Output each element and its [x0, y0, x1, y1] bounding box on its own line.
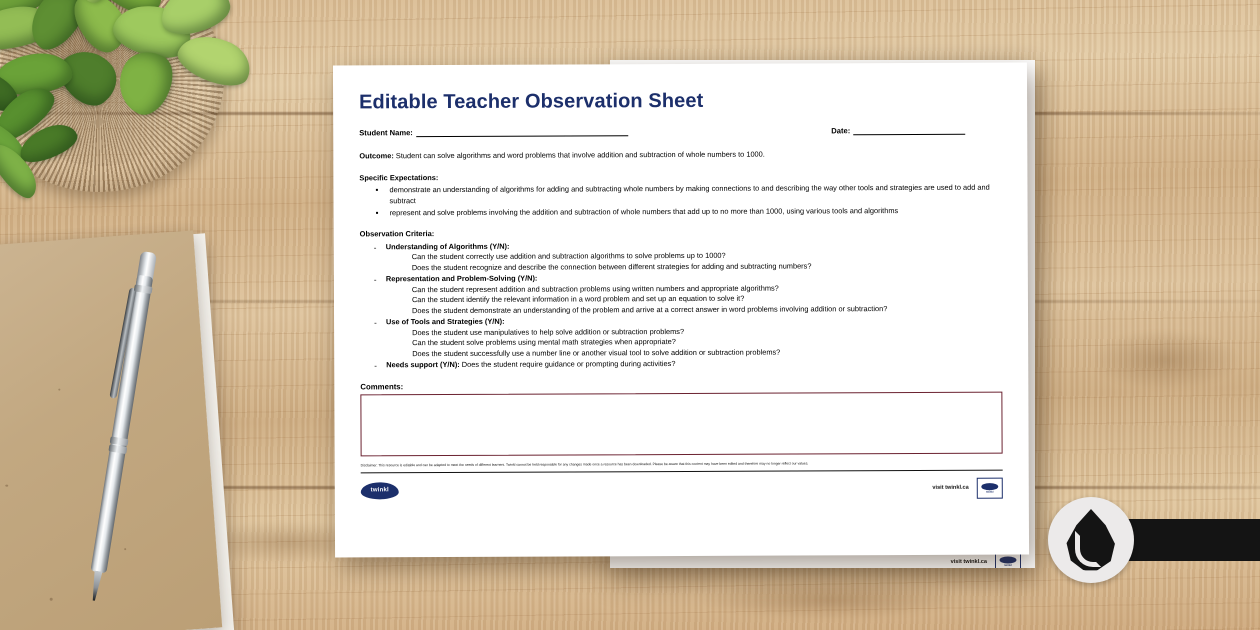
criteria-item-tools: Use of Tools and Strategies (Y/N): Does … [372, 315, 1002, 360]
editable-badge[interactable] [1048, 497, 1134, 583]
criteria-list: Understanding of Algorithms (Y/N): Can t… [372, 239, 1003, 371]
page-title: Editable Teacher Observation Sheet [359, 89, 1001, 115]
visit-url-text[interactable]: visit twinkl.ca [951, 559, 987, 565]
date-label: Date: [831, 126, 850, 135]
student-name-input[interactable] [416, 127, 628, 137]
footer-right-group: visit twinkl.ca twinkl [932, 478, 1002, 499]
outcome-label: Outcome: [359, 151, 394, 160]
twinkl-logo[interactable]: twinkl [361, 482, 399, 499]
observation-sheet-document[interactable]: Editable Teacher Observation Sheet Stude… [333, 62, 1029, 557]
criteria-item-needs-support: Needs support (Y/N): Does the student re… [372, 358, 1002, 371]
date-field[interactable]: Date: [831, 126, 965, 136]
twinkl-badge-icon: twinkl [977, 478, 1003, 499]
disclaimer-text: Disclaimer: This resource is editable an… [361, 460, 1003, 468]
twinkl-badge-label: twinkl [1004, 564, 1011, 567]
expectations-heading: Specific Expectations: [359, 173, 438, 182]
criteria-label: Needs support (Y/N): [386, 360, 460, 369]
potted-plant [0, 0, 274, 240]
document-footer: twinkl visit twinkl.ca twinkl [361, 470, 1003, 502]
cloud-icon [981, 483, 999, 491]
outcome-text: Student can solve algorithms and word pr… [396, 150, 765, 161]
twinkl-badge-label: twinkl [986, 491, 993, 494]
expectations-list: demonstrate an understanding of algorith… [359, 183, 1001, 218]
ink-drop-icon [1065, 509, 1117, 571]
student-date-field-row: Student Name: Date: [359, 126, 1001, 138]
comments-label: Comments: [360, 379, 1002, 391]
criteria-question: Does the student require guidance or pro… [462, 359, 676, 369]
student-name-label: Student Name: [359, 128, 413, 137]
criteria-heading: Observation Criteria: [360, 227, 1002, 241]
outcome-block: Outcome: Student can solve algorithms an… [359, 149, 1001, 163]
criteria-item-representation: Representation and Problem-Solving (Y/N)… [372, 272, 1002, 317]
comments-input[interactable] [360, 391, 1002, 456]
student-name-field[interactable]: Student Name: [359, 127, 628, 137]
twinkl-wordmark: twinkl [361, 482, 399, 499]
criteria-item-understanding: Understanding of Algorithms (Y/N): Can t… [372, 239, 1002, 273]
visit-url-text[interactable]: visit twinkl.ca [932, 485, 968, 491]
list-item: represent and solve problems involving t… [374, 205, 1002, 218]
date-input[interactable] [853, 126, 965, 135]
expectations-block: Specific Expectations: demonstrate an un… [359, 170, 1001, 218]
criteria-block: Observation Criteria: Understanding of A… [360, 227, 1003, 372]
list-item: demonstrate an understanding of algorith… [373, 183, 1001, 207]
